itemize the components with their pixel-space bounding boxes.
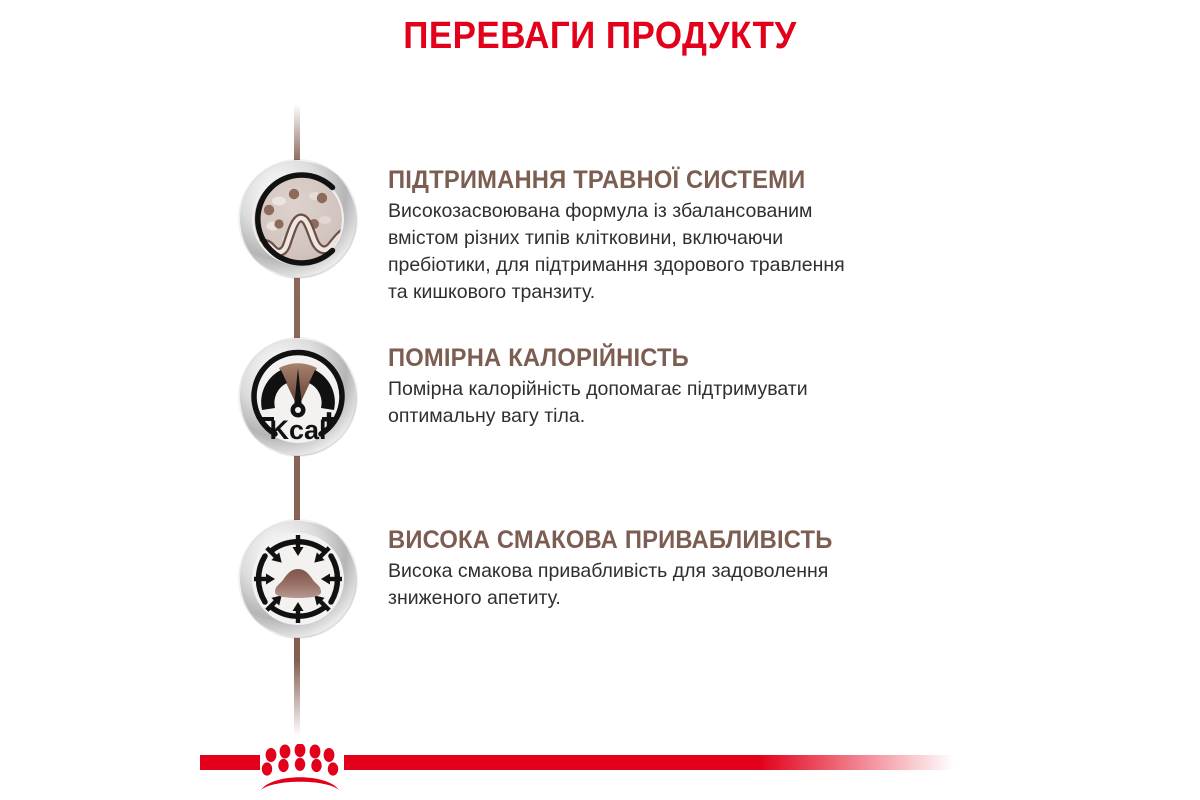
benefit-heading: ПІДТРИМАННЯ ТРАВНОЇ СИСТЕМИ (388, 166, 939, 194)
benefit-heading: ПОМІРНА КАЛОРІЙНІСТЬ (388, 344, 939, 372)
benefit-body: Високозасвоювана формула із збалансовани… (388, 198, 948, 306)
royal-canin-crown-logo (254, 744, 346, 796)
benefit-body-line: Помірна калорійність допомагає підтримув… (388, 376, 948, 403)
benefit-body-line: Високозасвоювана формула із збалансовани… (388, 198, 948, 225)
palatability-arrows-icon (239, 520, 357, 638)
benefit-body-line: та кишкового транзиту. (388, 279, 948, 306)
product-benefits-page: ПЕРЕВАГИ ПРОДУКТУ (0, 0, 1200, 800)
page-title: ПЕРЕВАГИ ПРОДУКТУ (48, 14, 1152, 58)
benefit-body: Помірна калорійність допомагає підтримув… (388, 376, 948, 430)
benefit-heading: ВИСОКА СМАКОВА ПРИВАБЛИВІСТЬ (388, 526, 939, 554)
benefit-body-line: пребіотики, для підтримання здорового тр… (388, 252, 948, 279)
brand-bar-right-segment (344, 755, 954, 770)
benefit-text-block: ВИСОКА СМАКОВА ПРИВАБЛИВІСТЬ Висока смак… (388, 526, 968, 612)
benefit-body-line: Висока смакова привабливість для задовол… (388, 558, 948, 585)
benefit-text-block: ПІДТРИМАННЯ ТРАВНОЇ СИСТЕМИ Високозасвою… (388, 166, 968, 306)
brand-bar-left-segment (200, 755, 260, 770)
kcal-gauge-icon: Kcal (239, 338, 357, 456)
benefit-body-line: оптимальну вагу тіла. (388, 403, 948, 430)
benefit-body-line: вмістом різних типів клітковини, включаю… (388, 225, 948, 252)
benefit-body: Висока смакова привабливість для задовол… (388, 558, 948, 612)
digestive-system-icon (239, 160, 357, 278)
kcal-label: Kcal (269, 415, 326, 445)
brand-bar (0, 744, 1200, 800)
benefit-body-line: зниженого апетиту. (388, 585, 948, 612)
benefit-text-block: ПОМІРНА КАЛОРІЙНІСТЬ Помірна калорійніст… (388, 344, 968, 430)
